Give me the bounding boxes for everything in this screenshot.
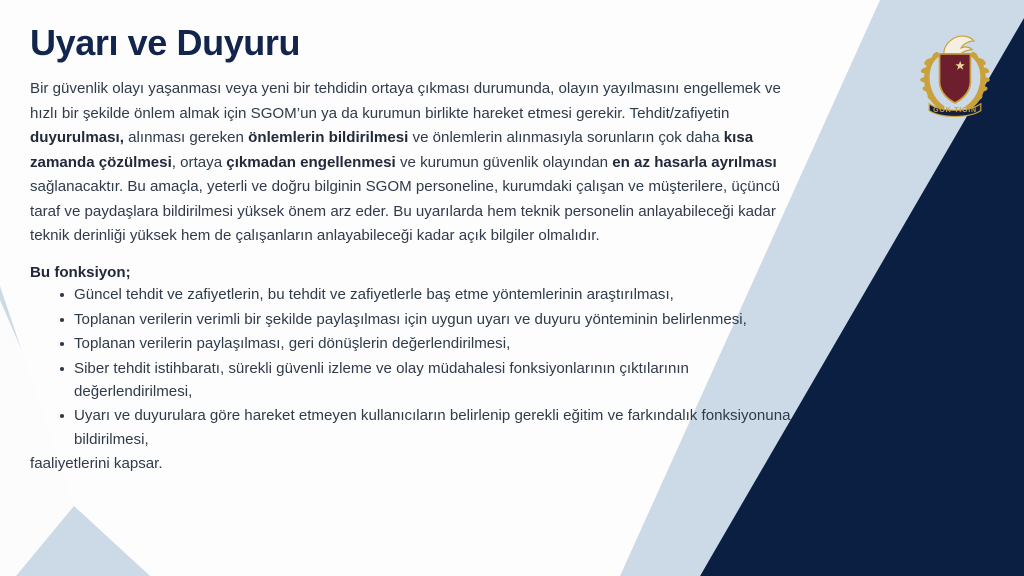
shield-shape	[940, 54, 971, 103]
emphasis-run: duyurulması,	[30, 129, 124, 146]
list-item: Siber tehdit istihbaratı, sürekli güvenl…	[60, 357, 810, 404]
wolf-head-icon	[944, 36, 974, 56]
list-item: Toplanan verilerin verimli bir şekilde p…	[60, 308, 810, 331]
text-run: sağlanacaktır. Bu amaçla, yeterli ve doğ…	[30, 178, 780, 244]
gok-tigin-emblem: GÖK TIGIN	[912, 33, 998, 123]
bottom-left-blue-foot	[16, 506, 150, 576]
list-lead-in: Bu fonksiyon;	[30, 264, 810, 281]
emphasis-run: çıkmadan engellenmesi	[226, 154, 395, 171]
emblem-banner-text: GÖK TIGIN	[933, 105, 977, 114]
page-title: Uyarı ve Duyuru	[30, 22, 810, 63]
text-run: ve önlemlerin alınmasıyla sorunların çok…	[408, 129, 723, 146]
text-run: , ortaya	[172, 154, 227, 171]
text-run: Bir güvenlik olayı yaşanması veya yeni b…	[30, 80, 781, 121]
slide-canvas: GÖK TIGIN Uyarı ve Duyuru Bir güvenlik o…	[0, 0, 1024, 576]
list-item: Toplanan verilerin paylaşılması, geri dö…	[60, 332, 810, 355]
emphasis-run: en az hasarla ayrılması	[612, 154, 776, 171]
intro-paragraph: Bir güvenlik olayı yaşanması veya yeni b…	[30, 77, 810, 248]
text-run: alınması gereken	[124, 129, 248, 146]
closing-line: faaliyetlerini kapsar.	[30, 452, 810, 475]
emphasis-run: önlemlerin bildirilmesi	[248, 129, 408, 146]
slide-content: Uyarı ve Duyuru Bir güvenlik olayı yaşan…	[0, 0, 810, 476]
list-item: Güncel tehdit ve zafiyetlerin, bu tehdit…	[60, 283, 810, 306]
text-run: ve kurumun güvenlik olayından	[396, 154, 612, 171]
function-bullet-list: Güncel tehdit ve zafiyetlerin, bu tehdit…	[30, 283, 810, 451]
list-item: Uyarı ve duyurulara göre hareket etmeyen…	[60, 404, 810, 451]
